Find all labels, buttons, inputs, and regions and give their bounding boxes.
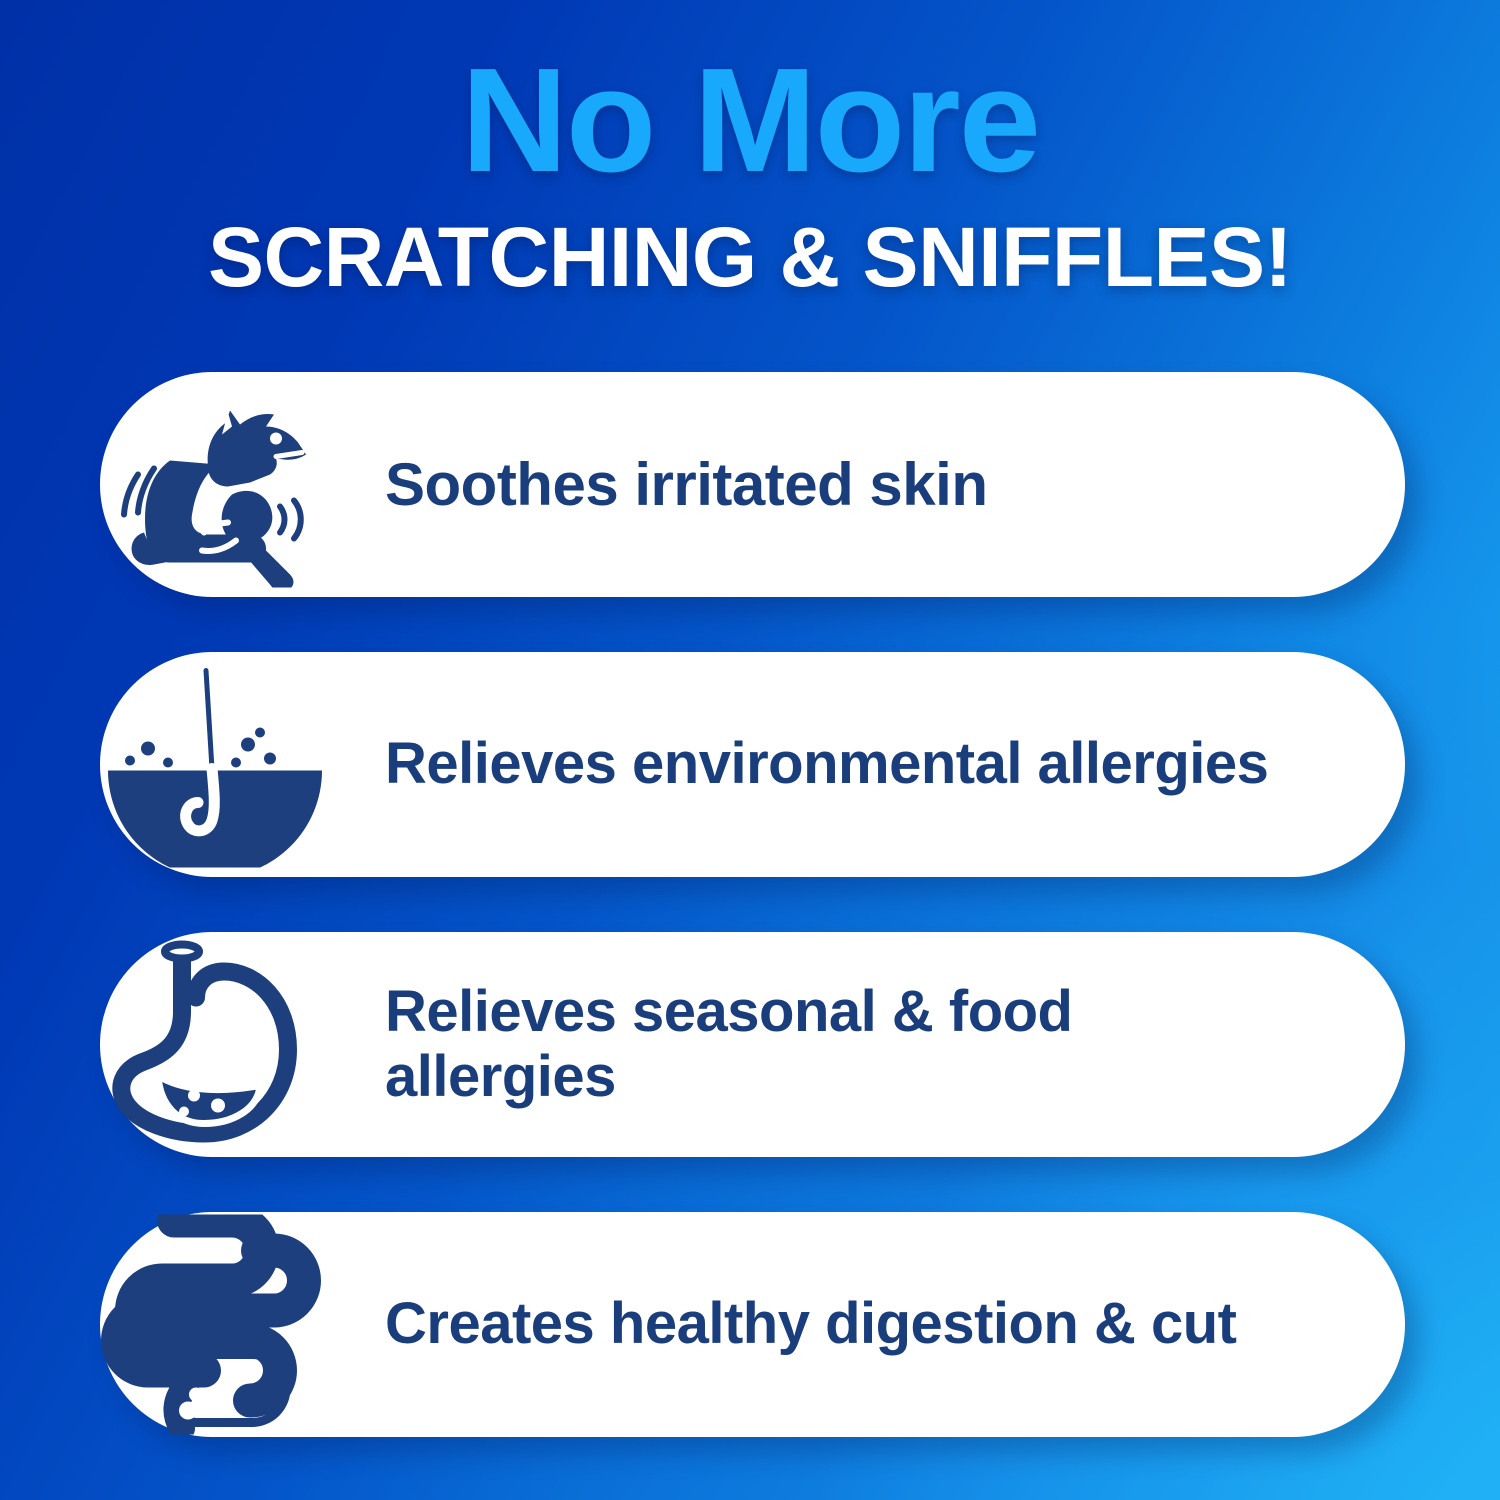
- headline-primary: No More: [0, 48, 1500, 193]
- hair-follicle-skin-icon: [90, 652, 340, 877]
- benefit-label: Soothes irritated skin: [385, 451, 1047, 518]
- benefit-card-relieves-environmental-allergies[interactable]: Relieves environmental allergies: [100, 652, 1405, 877]
- benefit-label: Relieves seasonal & food allergies: [385, 980, 1335, 1110]
- benefit-label: Creates healthy digestion & cut: [385, 1292, 1296, 1357]
- headline-secondary: SCRATCHING & SNIFFLES!: [0, 215, 1500, 299]
- benefit-card-soothes-irritated-skin[interactable]: Soothes irritated skin: [100, 372, 1405, 597]
- intestine-icon: [90, 1212, 340, 1437]
- benefit-card-relieves-seasonal-food-allergies[interactable]: Relieves seasonal & food allergies: [100, 932, 1405, 1157]
- promo-poster: No More SCRATCHING & SNIFFLES!: [0, 0, 1500, 1500]
- headline-block: No More SCRATCHING & SNIFFLES!: [0, 48, 1500, 299]
- benefits-list: Soothes irritated skin: [100, 372, 1420, 1492]
- stomach-icon: [90, 932, 340, 1157]
- benefit-label: Relieves environmental allergies: [385, 732, 1328, 797]
- dog-scratching-icon: [90, 372, 340, 597]
- benefit-card-creates-healthy-digestion[interactable]: Creates healthy digestion & cut: [100, 1212, 1405, 1437]
